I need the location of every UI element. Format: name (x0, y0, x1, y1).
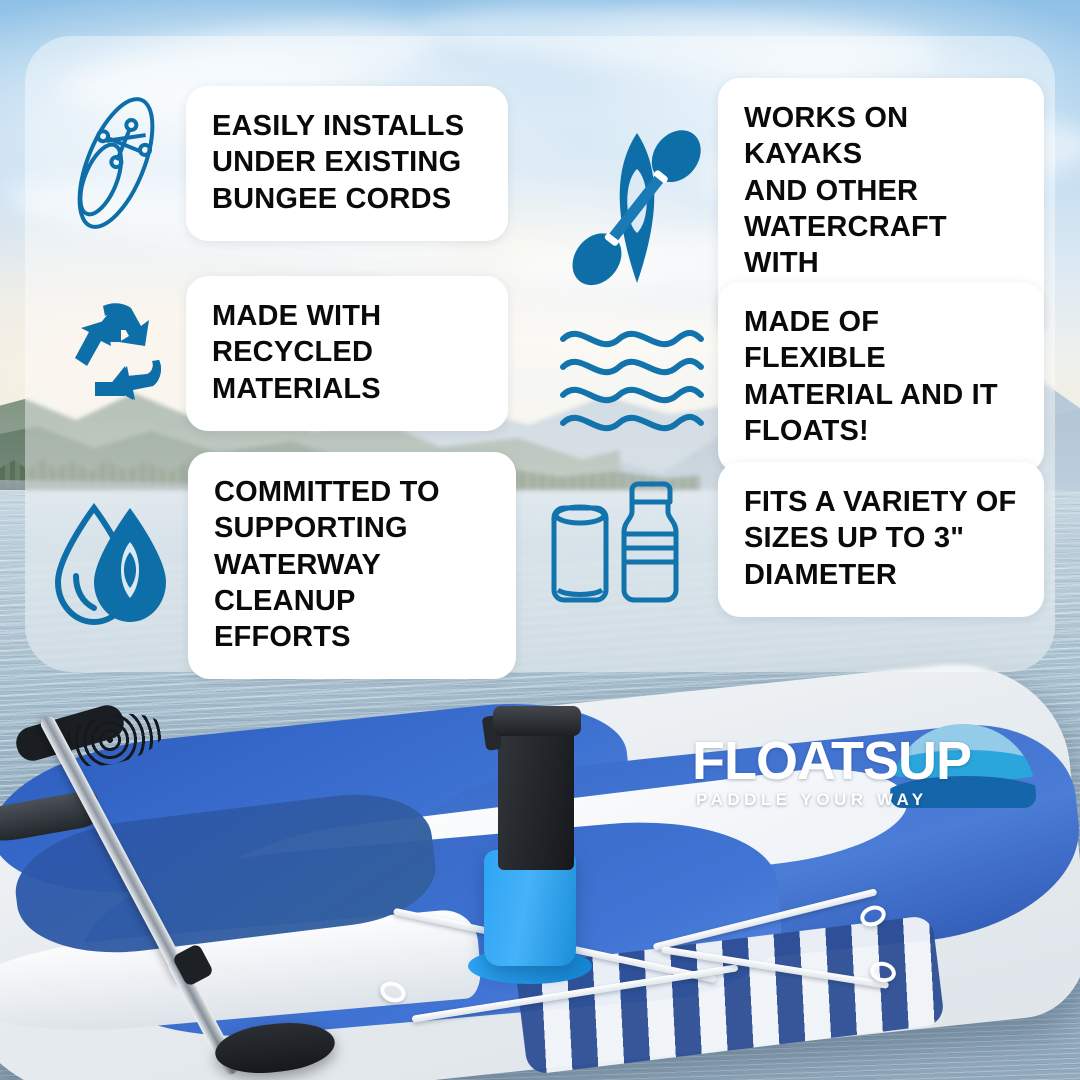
feature-item-flexible: MADE OF FLEXIBLE MATERIAL AND IT FLOATS! (546, 282, 1044, 473)
feature-card: EASILY INSTALLS UNDER EXISTING BUNGEE CO… (186, 86, 508, 241)
feature-text: MADE WITH RECYCLED MATERIALS (212, 298, 482, 407)
feature-card: COMMITTED TO SUPPORTING WATERWAY CLEANUP… (188, 452, 516, 679)
water-drop-icon (40, 498, 188, 633)
recycle-icon (46, 298, 186, 408)
brand-name-sup: SUP (863, 731, 971, 791)
paddleboard-icon (46, 88, 186, 238)
feature-item-recycled: MADE WITH RECYCLED MATERIALS (46, 276, 508, 431)
can-bottle-icon (534, 472, 718, 607)
feature-card: MADE WITH RECYCLED MATERIALS (186, 276, 508, 431)
feature-grid: EASILY INSTALLS UNDER EXISTING BUNGEE CO… (0, 0, 1080, 700)
feature-text: COMMITTED TO SUPPORTING WATERWAY CLEANUP… (214, 474, 490, 655)
feature-card: MADE OF FLEXIBLE MATERIAL AND IT FLOATS! (718, 282, 1044, 473)
feature-text: FITS A VARIETY OF SIZES UP TO 3" DIAMETE… (744, 484, 1018, 593)
infographic-canvas: EASILY INSTALLS UNDER EXISTING BUNGEE CO… (0, 0, 1080, 1080)
brand-logo: FLOATSUP PADDLE YOUR WAY (692, 730, 1042, 810)
bottle-cap (493, 706, 581, 736)
brand-name-float: FLOAT (692, 731, 863, 791)
feature-card: FITS A VARIETY OF SIZES UP TO 3" DIAMETE… (718, 462, 1044, 617)
feature-text: EASILY INSTALLS UNDER EXISTING BUNGEE CO… (212, 108, 482, 217)
brand-name: FLOATSUP (692, 734, 971, 788)
water-bottle (498, 720, 574, 870)
feature-item-fits-sizes: FITS A VARIETY OF SIZES UP TO 3" DIAMETE… (534, 462, 1044, 617)
kayak-paddle-icon (556, 125, 718, 295)
feature-text: MADE OF FLEXIBLE MATERIAL AND IT FLOATS! (744, 304, 1018, 449)
waves-icon (546, 323, 718, 433)
brand-tagline: PADDLE YOUR WAY (696, 790, 928, 810)
feature-item-install: EASILY INSTALLS UNDER EXISTING BUNGEE CO… (46, 86, 508, 241)
feature-item-cleanup: COMMITTED TO SUPPORTING WATERWAY CLEANUP… (40, 452, 516, 679)
